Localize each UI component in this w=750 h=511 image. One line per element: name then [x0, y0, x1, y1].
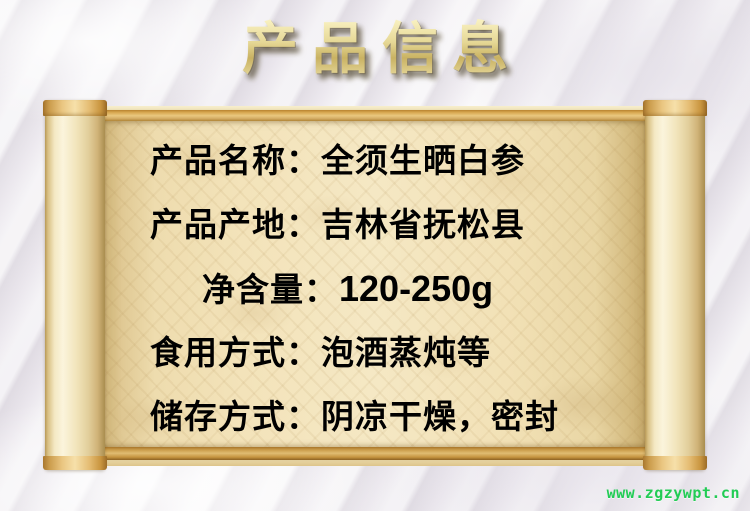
scroll-cap-left-bottom [43, 456, 107, 470]
scroll-cap-left-top [43, 100, 107, 116]
info-row-origin: 产品产地：吉林省抚松县 [150, 207, 620, 243]
info-row-storage: 储存方式：阴凉干燥，密封 [150, 399, 620, 435]
scroll-cap-right-bottom [643, 456, 707, 470]
info-value: 泡酒蒸炖等 [321, 333, 491, 372]
info-separator: ： [304, 270, 337, 309]
info-label: 食用方式 [150, 333, 286, 372]
info-label: 产品名称 [150, 141, 286, 180]
info-separator: ： [286, 397, 319, 436]
page-title: 产品信息 [0, 17, 750, 83]
scroll-rod-left [45, 100, 105, 470]
info-row-net-weight: 净含量：120-250g [150, 271, 672, 308]
product-info-list: 产品名称：全须生晒白参 产品产地：吉林省抚松县 净含量：120-250g 食用方… [150, 135, 620, 455]
scroll-cap-right-top [643, 100, 707, 116]
info-label: 产品产地 [150, 205, 286, 244]
info-row-usage: 食用方式：泡酒蒸炖等 [150, 335, 620, 371]
info-separator: ： [286, 141, 319, 180]
info-separator: ： [286, 205, 319, 244]
info-label: 储存方式 [150, 397, 286, 436]
parchment-ledge-top [100, 110, 650, 121]
info-value: 阴凉干燥，密封 [321, 397, 559, 436]
site-watermark: www.zgzywpt.cn [607, 484, 740, 502]
info-value: 120-250g [339, 268, 493, 309]
info-value: 吉林省抚松县 [321, 205, 525, 244]
info-separator: ： [286, 333, 319, 372]
info-row-product-name: 产品名称：全须生晒白参 [150, 143, 620, 179]
info-label: 净含量 [202, 270, 304, 309]
info-value: 全须生晒白参 [321, 141, 525, 180]
product-info-banner: 产品信息 产品名称：全须生晒白参 产品产地：吉林省抚松县 净含量：120-250… [0, 0, 750, 511]
